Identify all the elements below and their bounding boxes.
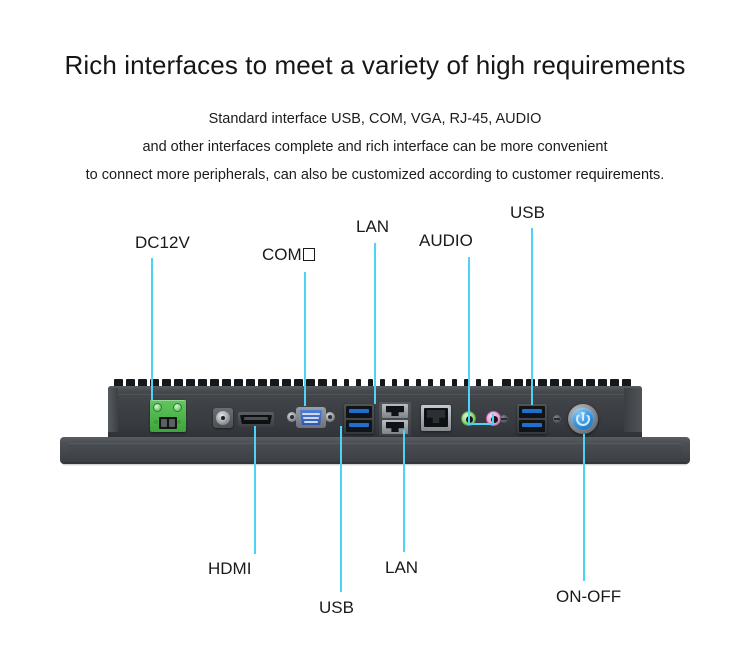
power-on-off-button[interactable] bbox=[568, 404, 598, 434]
leader-line-audio-green bbox=[468, 414, 470, 424]
callout-hdmi: HDMI bbox=[208, 559, 251, 579]
page-title: Rich interfaces to meet a variety of hig… bbox=[0, 50, 750, 81]
hdmi-tongue bbox=[244, 417, 268, 420]
panel-screw bbox=[500, 415, 508, 423]
serial-com-stacked-ports bbox=[379, 402, 411, 436]
callout-usb-bottom-label: USB bbox=[319, 598, 354, 617]
subtitle-line-2: and other interfaces complete and rich i… bbox=[0, 139, 750, 155]
callout-onoff: ON-OFF bbox=[556, 587, 621, 607]
callout-audio: AUDIO bbox=[419, 231, 473, 251]
chassis-right-edge bbox=[624, 388, 642, 438]
callout-com: COM bbox=[262, 245, 315, 265]
leader-line-onoff bbox=[583, 434, 585, 581]
serial-jack bbox=[382, 404, 408, 418]
product-diagram: Rich interfaces to meet a variety of hig… bbox=[0, 0, 750, 655]
chassis-base-shadow bbox=[62, 462, 688, 466]
terminal-pin bbox=[169, 419, 175, 427]
leader-line-hdmi bbox=[254, 426, 256, 554]
leader-line-audio-pink bbox=[492, 414, 494, 424]
vga-pin-row bbox=[302, 413, 320, 415]
callout-audio-label: AUDIO bbox=[419, 231, 473, 250]
rj45-plug-silhouette bbox=[427, 410, 445, 423]
callout-onoff-label: ON-OFF bbox=[556, 587, 621, 606]
serial-cavity bbox=[386, 422, 404, 432]
vga-screw-ear bbox=[287, 412, 297, 422]
usb-blue-insert bbox=[349, 423, 369, 427]
power-icon-stem bbox=[582, 413, 584, 421]
vga-screw-ear bbox=[325, 412, 335, 422]
callout-hdmi-label: HDMI bbox=[208, 559, 251, 578]
chassis-base-bezel bbox=[60, 437, 690, 464]
vga-pin-row bbox=[303, 417, 319, 419]
leader-line-lan-top bbox=[374, 243, 376, 404]
chassis-lower-edge bbox=[108, 432, 642, 440]
vga-dsub-connector bbox=[299, 410, 323, 425]
vga-port bbox=[287, 406, 335, 429]
callout-dc12v: DC12V bbox=[135, 233, 190, 253]
missing-glyph-box bbox=[303, 248, 315, 261]
callout-usb-top-label: USB bbox=[510, 203, 545, 222]
callout-com-label: COM bbox=[262, 245, 302, 264]
leader-line-dc12v bbox=[151, 258, 153, 400]
callout-usb-bottom: USB bbox=[319, 598, 354, 618]
usb-slot bbox=[519, 420, 545, 432]
leader-line-usb-top bbox=[531, 228, 533, 405]
callout-dc12v-label: DC12V bbox=[135, 233, 190, 252]
subtitle-line-1: Standard interface USB, COM, VGA, RJ-45,… bbox=[0, 111, 750, 127]
hdmi-cavity bbox=[240, 415, 272, 424]
vga-screw-hole bbox=[290, 415, 294, 419]
usb-blue-insert bbox=[522, 409, 542, 413]
dc-barrel-jack-port bbox=[213, 408, 233, 428]
usb-slot bbox=[519, 406, 545, 418]
callout-lan-bottom: LAN bbox=[385, 558, 418, 578]
usb-3-stacked-ports-right bbox=[517, 404, 547, 434]
leader-line-audio-fork bbox=[468, 423, 494, 425]
callout-lan-top-label: LAN bbox=[356, 217, 389, 236]
power-button-cap bbox=[572, 408, 594, 430]
serial-cavity bbox=[386, 406, 404, 416]
screw-slot bbox=[554, 418, 560, 420]
vga-shell bbox=[296, 407, 326, 428]
callout-lan-bottom-label: LAN bbox=[385, 558, 418, 577]
usb-slot bbox=[346, 420, 372, 432]
rj45-cavity bbox=[424, 408, 448, 427]
dc-power-terminal-block-port bbox=[150, 400, 186, 432]
usb-slot bbox=[346, 406, 372, 418]
terminal-screw bbox=[173, 403, 182, 412]
usb-blue-insert bbox=[349, 409, 369, 413]
leader-line-usb-bottom bbox=[340, 426, 342, 592]
vga-screw-hole bbox=[328, 415, 332, 419]
terminal-pin bbox=[161, 419, 167, 427]
chassis-base-inner bbox=[68, 443, 682, 459]
dc-jack-pin bbox=[221, 416, 225, 420]
leader-line-lan-bottom bbox=[403, 430, 405, 552]
panel-screw bbox=[553, 415, 561, 423]
hdmi-port bbox=[238, 412, 274, 427]
leader-line-audio bbox=[468, 257, 470, 423]
screw-slot bbox=[501, 418, 507, 420]
terminal-screw bbox=[153, 403, 162, 412]
rj45-lan-port bbox=[421, 405, 451, 431]
terminal-pin-housing bbox=[159, 417, 177, 429]
chassis-left-edge bbox=[108, 388, 118, 438]
terminal-dot bbox=[177, 420, 181, 424]
usb-blue-insert bbox=[522, 423, 542, 427]
subtitle-line-3: to connect more peripherals, can also be… bbox=[0, 167, 750, 183]
leader-line-com bbox=[304, 272, 306, 406]
dc-jack-ring bbox=[216, 411, 230, 425]
terminal-dot bbox=[154, 420, 158, 424]
vga-pin-row bbox=[304, 421, 318, 423]
usb-3-stacked-ports-left bbox=[344, 404, 374, 434]
callout-lan-top: LAN bbox=[356, 217, 389, 237]
callout-usb-top: USB bbox=[510, 203, 545, 223]
power-icon bbox=[576, 412, 590, 426]
